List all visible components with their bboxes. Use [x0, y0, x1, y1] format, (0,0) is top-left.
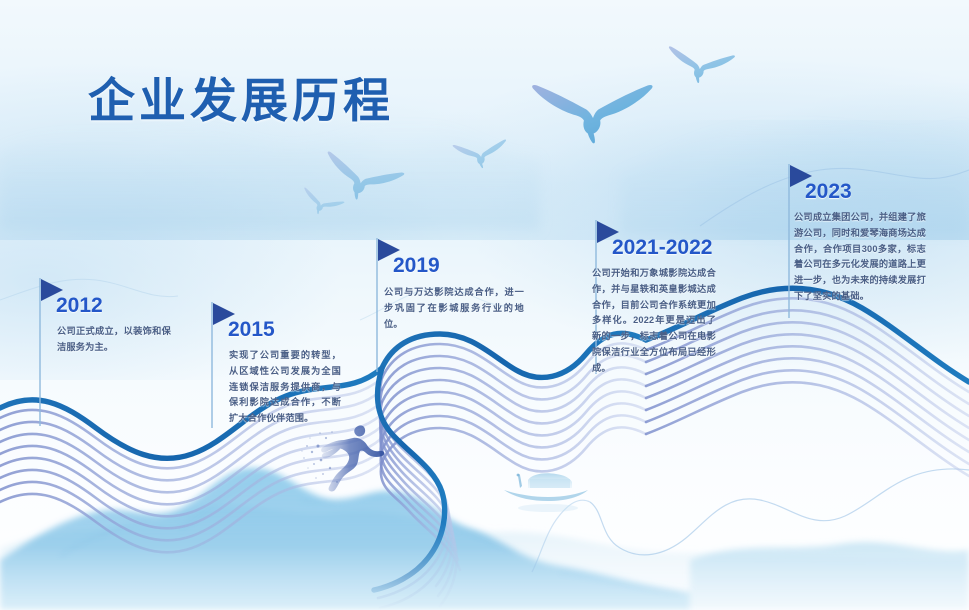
milestone-year-2021-2022: 2021-2022	[612, 236, 712, 260]
milestone-desc-2012: 公司正式成立，以装饰和保洁服务为主。	[57, 324, 171, 356]
milestone-year-2019: 2019	[393, 254, 440, 278]
milestone-desc-2023: 公司成立集团公司，并组建了旅游公司，同时和爱琴海商场达成合作，合作项目300多家…	[794, 210, 926, 305]
thin-decorative-curve	[590, 469, 969, 555]
milestone-desc-2019: 公司与万达影院达成合作，进一步巩固了在影城服务行业的地位。	[384, 285, 524, 332]
milestone-desc-2021-2022: 公司开始和万象城影院达成合作，并与星轶和英皇影城达成合作，目前公司合作系统更加多…	[592, 266, 716, 377]
poster-canvas: 企业发展历程 2012 公司正式成立，以装饰和保洁服务为主。 2015 实现了公…	[0, 0, 969, 610]
page-title: 企业发展历程	[88, 62, 394, 131]
fishing-boat-icon	[498, 466, 594, 514]
milestone-year-2012: 2012	[56, 294, 103, 318]
milestone-year-2015: 2015	[228, 318, 275, 342]
milestone-desc-2015: 实现了公司重要的转型，从区域性公司发展为全国连锁保洁服务提供商，与保利影院达成合…	[229, 348, 341, 427]
particle-runner-icon	[296, 416, 396, 494]
milestone-year-2023: 2023	[805, 180, 852, 204]
